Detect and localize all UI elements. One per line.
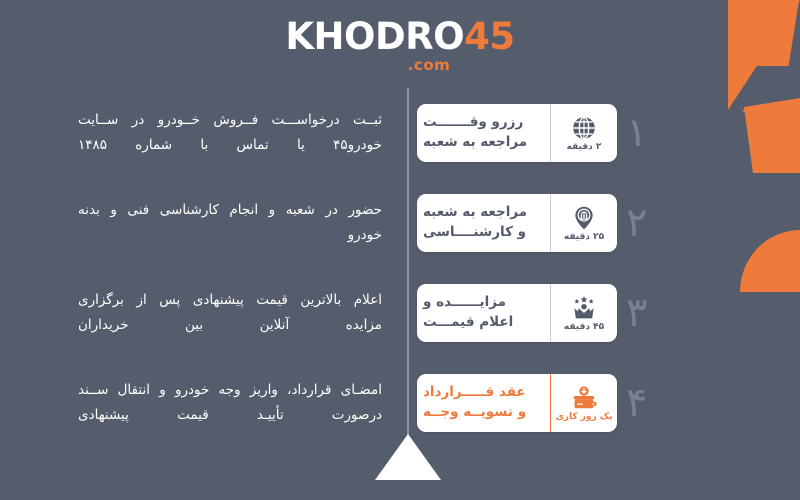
step-description-line: خودرو: [78, 223, 382, 248]
step-title-line: مراجعه به شعبه: [423, 133, 527, 153]
step-number: ۴: [626, 383, 647, 423]
step-description: امضـای قرارداد، واریز وجه خودرو و انتقال…: [78, 378, 382, 428]
step-row: امضـای قرارداد، واریز وجه خودرو و انتقال…: [0, 358, 800, 448]
step-description: اعلام بالاترین قیمت پیشنهادی پس از برگزا…: [78, 288, 382, 338]
step-description-line: مزایده آنلاین بین خریداران: [78, 313, 382, 338]
step-duration: ۴۵ دقیقه: [564, 323, 604, 332]
step-duration: یک روز کاری: [556, 413, 613, 422]
brand-logo: KHODRO45 .com: [0, 18, 800, 74]
auction-award-icon: [571, 295, 597, 321]
step-description-line: اعلام بالاترین قیمت پیشنهادی پس از برگزا…: [78, 288, 382, 313]
step-title-line: و تسویــه وجــه: [423, 403, 526, 423]
step-number: ۳: [626, 293, 647, 333]
step-card-label: مزایــــــده و اعلام قیمـــت: [417, 284, 550, 342]
step-description-line: خودرو۴۵ یا تماس با شماره ۱۴۸۵: [78, 133, 382, 158]
step-card-icon-area: ۲ دقیقه: [550, 104, 617, 162]
step-description-line: درصورت تأییـد قیمت پیشنهادی: [78, 403, 382, 428]
step-card-icon-area: ۴۵ دقیقه: [550, 284, 617, 342]
step-card-label: رزرو وقـــــــت مراجعه به شعبه: [417, 104, 550, 162]
step-description-line: ثبــت درخواســـت فــروش خــودرو در ســای…: [78, 108, 382, 133]
step-card[interactable]: مزایــــــده و اعلام قیمـــت ۴۵ دقیقه: [417, 284, 617, 342]
globe-icon: [571, 115, 597, 141]
step-card[interactable]: عقد قـــــرارداد و تسویــه وجــه یک روز …: [417, 374, 617, 432]
step-number: ۱: [626, 113, 647, 153]
step-title-line: مراجعه به شعبه: [423, 203, 527, 223]
step-row: حضور در شعبه و انجام کارشناسی فنی و بدنه…: [0, 178, 800, 268]
step-description-line: حضور در شعبه و انجام کارشناسی فنی و بدنه: [78, 198, 382, 223]
infographic-canvas: KHODRO45 .com ثبــت درخواســـت فــروش خـ…: [0, 0, 800, 500]
step-row: ثبــت درخواســـت فــروش خــودرو در ســای…: [0, 88, 800, 178]
step-row: اعلام بالاترین قیمت پیشنهادی پس از برگزا…: [0, 268, 800, 358]
map-pin-bank-icon: [571, 205, 597, 231]
step-description: ثبــت درخواســـت فــروش خــودرو در ســای…: [78, 108, 382, 158]
step-title-line: اعلام قیمـــت: [423, 313, 513, 333]
logo-khodro-text: KHODRO: [285, 15, 464, 58]
step-description: حضور در شعبه و انجام کارشناسی فنی و بدنه…: [78, 198, 382, 248]
step-title-line: رزرو وقـــــــت: [423, 113, 523, 133]
step-title-line: مزایــــــده و: [423, 293, 506, 313]
step-number: ۲: [626, 203, 647, 243]
step-card-icon-area: ۲۵ دقیقه: [550, 194, 617, 252]
wallet-download-icon: [571, 385, 597, 411]
step-card[interactable]: رزرو وقـــــــت مراجعه به شعبه ۲ دقیقه: [417, 104, 617, 162]
steps-list: ثبــت درخواســـت فــروش خــودرو در ســای…: [0, 88, 800, 448]
step-card-label: عقد قـــــرارداد و تسویــه وجــه: [417, 374, 550, 432]
step-description-line: امضـای قرارداد، واریز وجه خودرو و انتقال…: [78, 378, 382, 403]
step-title-line: عقد قـــــرارداد: [423, 383, 526, 403]
step-duration: ۲ دقیقه: [567, 143, 602, 152]
step-card-icon-area: یک روز کاری: [550, 374, 617, 432]
logo-wordmark: KHODRO45: [0, 18, 800, 55]
step-title-line: و کارشنــــاسی: [423, 223, 526, 243]
step-card-label: مراجعه به شعبه و کارشنــــاسی: [417, 194, 550, 252]
step-duration: ۲۵ دقیقه: [564, 233, 604, 242]
step-card[interactable]: مراجعه به شعبه و کارشنــــاسی ۲۵ دقیقه: [417, 194, 617, 252]
logo-tld-text: .com: [58, 56, 800, 74]
logo-45-text: 45: [464, 15, 515, 58]
